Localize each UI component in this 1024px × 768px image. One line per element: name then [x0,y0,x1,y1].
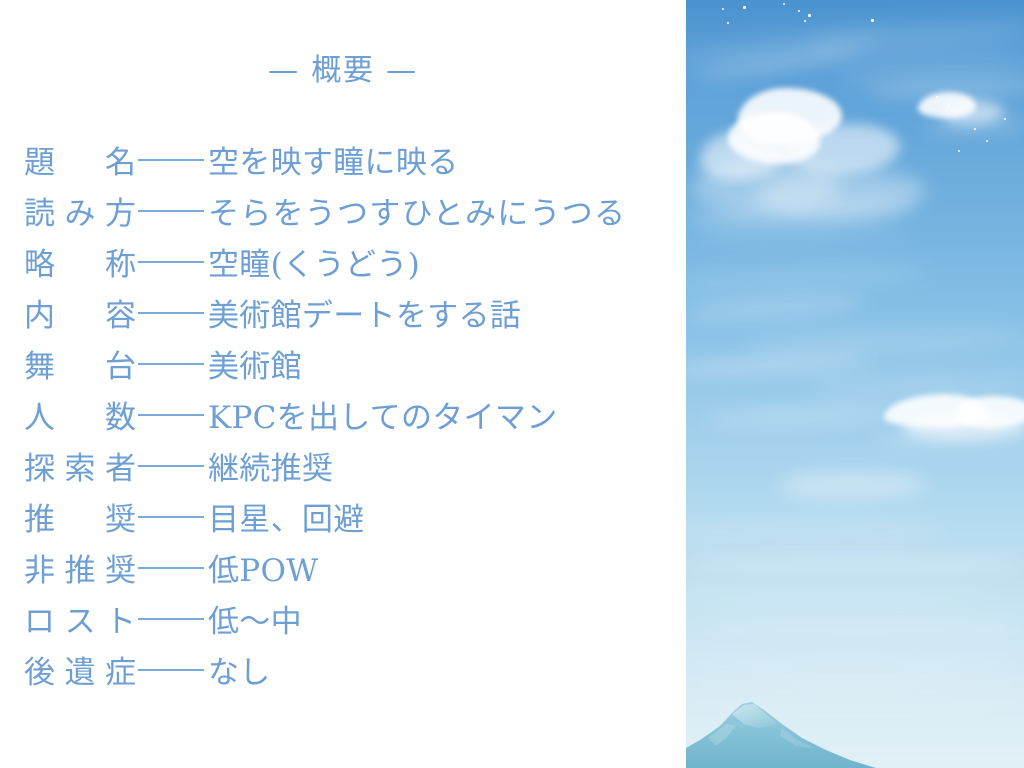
cloud-shape [782,124,900,174]
cloud-streak [686,650,1024,666]
cloud-streak [686,588,996,606]
spec-label: 内容 [24,296,136,336]
spec-value: 空瞳(くうどう) [208,245,420,285]
slide-canvas: — 概要 — 題名 空を映す瞳に映る 読み方 そらをうつすひとみにうつる 略称 … [0,0,1024,768]
cloud-streak [746,325,1024,357]
spec-label: 後遺症 [24,653,136,693]
spec-list: 題名 空を映す瞳に映る 読み方 そらをうつすひとみにうつる 略称 空瞳(くうどう… [24,143,684,704]
cloud-shape [918,92,976,118]
spec-row-aftereffect: 後遺症 なし [24,653,684,704]
mountain-silhouette [686,688,1024,768]
star-field [686,0,1024,768]
spec-row-content: 内容 美術館デートをする話 [24,296,684,347]
cloud-streak [692,45,862,83]
star-speck [986,140,988,142]
star-speck [871,19,874,22]
cloud-shape [756,168,926,218]
cloud-streaks-mid [686,0,1024,768]
spec-row-title: 題名 空を映す瞳に映る [24,143,684,194]
spec-label: 題名 [24,143,136,183]
cloud-streak [696,217,907,246]
spec-label: ロスト [24,602,136,642]
spec-value: 目星、回避 [208,500,365,540]
cloud-streak [686,351,870,379]
cumulus-small-upper-right [686,0,1024,768]
cloud-streak [866,79,1024,99]
cloud-shape [728,112,820,164]
star-speck [958,150,960,152]
spec-value: 空を映す瞳に映る [208,143,458,183]
star-speck [804,20,806,22]
spec-row-abbreviation: 略称 空瞳(くうどう) [24,245,684,296]
star-speck [974,128,976,130]
cloud-streaks-lower [686,0,1024,768]
spec-label: 読み方 [24,194,136,234]
spec-value: 低POW [208,551,318,591]
star-speck [798,10,800,12]
star-speck [743,6,746,9]
cloud-streak [686,520,956,540]
star-speck [948,104,950,106]
spec-row-player-count: 人数 KPCを出してのタイマン [24,398,684,449]
spec-label: 人数 [24,398,136,438]
cloud-shape [778,470,928,500]
cloud-streaks-upper [686,0,1024,768]
cloud-streak [706,405,896,428]
star-speck [783,3,785,5]
cloud-streak [806,374,1024,398]
cloud-streak [686,27,886,68]
text-pane: — 概要 — 題名 空を映す瞳に映る 読み方 そらをうつすひとみにうつる 略称 … [0,0,686,768]
spec-value: そらをうつすひとみにうつる [208,194,626,234]
cloud-streak [876,431,1024,448]
cloud-streak [686,192,916,230]
cloud-streak [696,620,1024,634]
spec-label: 推奨 [24,500,136,540]
cloud-shape [700,132,784,180]
spec-value: 継続推奨 [208,449,333,489]
spec-row-setting: 舞台 美術館 [24,347,684,398]
cloud-shape [902,414,1024,440]
spec-value: なし [208,653,271,693]
cumulus-cluster-mid-right [686,0,1024,768]
sky-illustration [686,0,1024,768]
spec-row-recommended: 推奨 目星、回避 [24,500,684,551]
cloud-streak [836,57,1024,85]
star-speck [1004,118,1006,120]
page-title: — 概要 — [0,52,686,90]
cloud-shape [956,396,1024,428]
spec-row-investigator: 探索者 継続推奨 [24,449,684,500]
spec-value: KPCを出してのタイマン [208,398,558,438]
cloud-streak [686,676,1024,688]
cloud-streak [686,261,926,295]
star-speck [727,22,729,24]
spec-label: 探索者 [24,449,136,489]
spec-value: 低〜中 [208,602,302,642]
star-speck [936,96,938,98]
cloud-streak [926,116,1024,133]
cloud-streak [686,556,1024,572]
spec-value: 美術館 [208,347,302,387]
spec-row-lost: ロスト 低〜中 [24,602,684,653]
cloud-streak [806,20,1024,56]
spec-label: 非推奨 [24,551,136,591]
cloud-shape [692,158,842,212]
spec-row-reading: 読み方 そらをうつすひとみにうつる [24,194,684,245]
cloud-shape [738,88,842,144]
star-speck [808,14,811,17]
cumulus-cluster-main [686,0,1024,768]
cloud-shape [942,100,1004,124]
star-speck [722,8,724,10]
cloud-streak [686,294,866,323]
spec-value: 美術館デートをする話 [208,296,521,336]
cloud-shape [884,394,988,428]
spec-row-not-recommended: 非推奨 低POW [24,551,684,602]
spec-label: 舞台 [24,347,136,387]
spec-label: 略称 [24,245,136,285]
